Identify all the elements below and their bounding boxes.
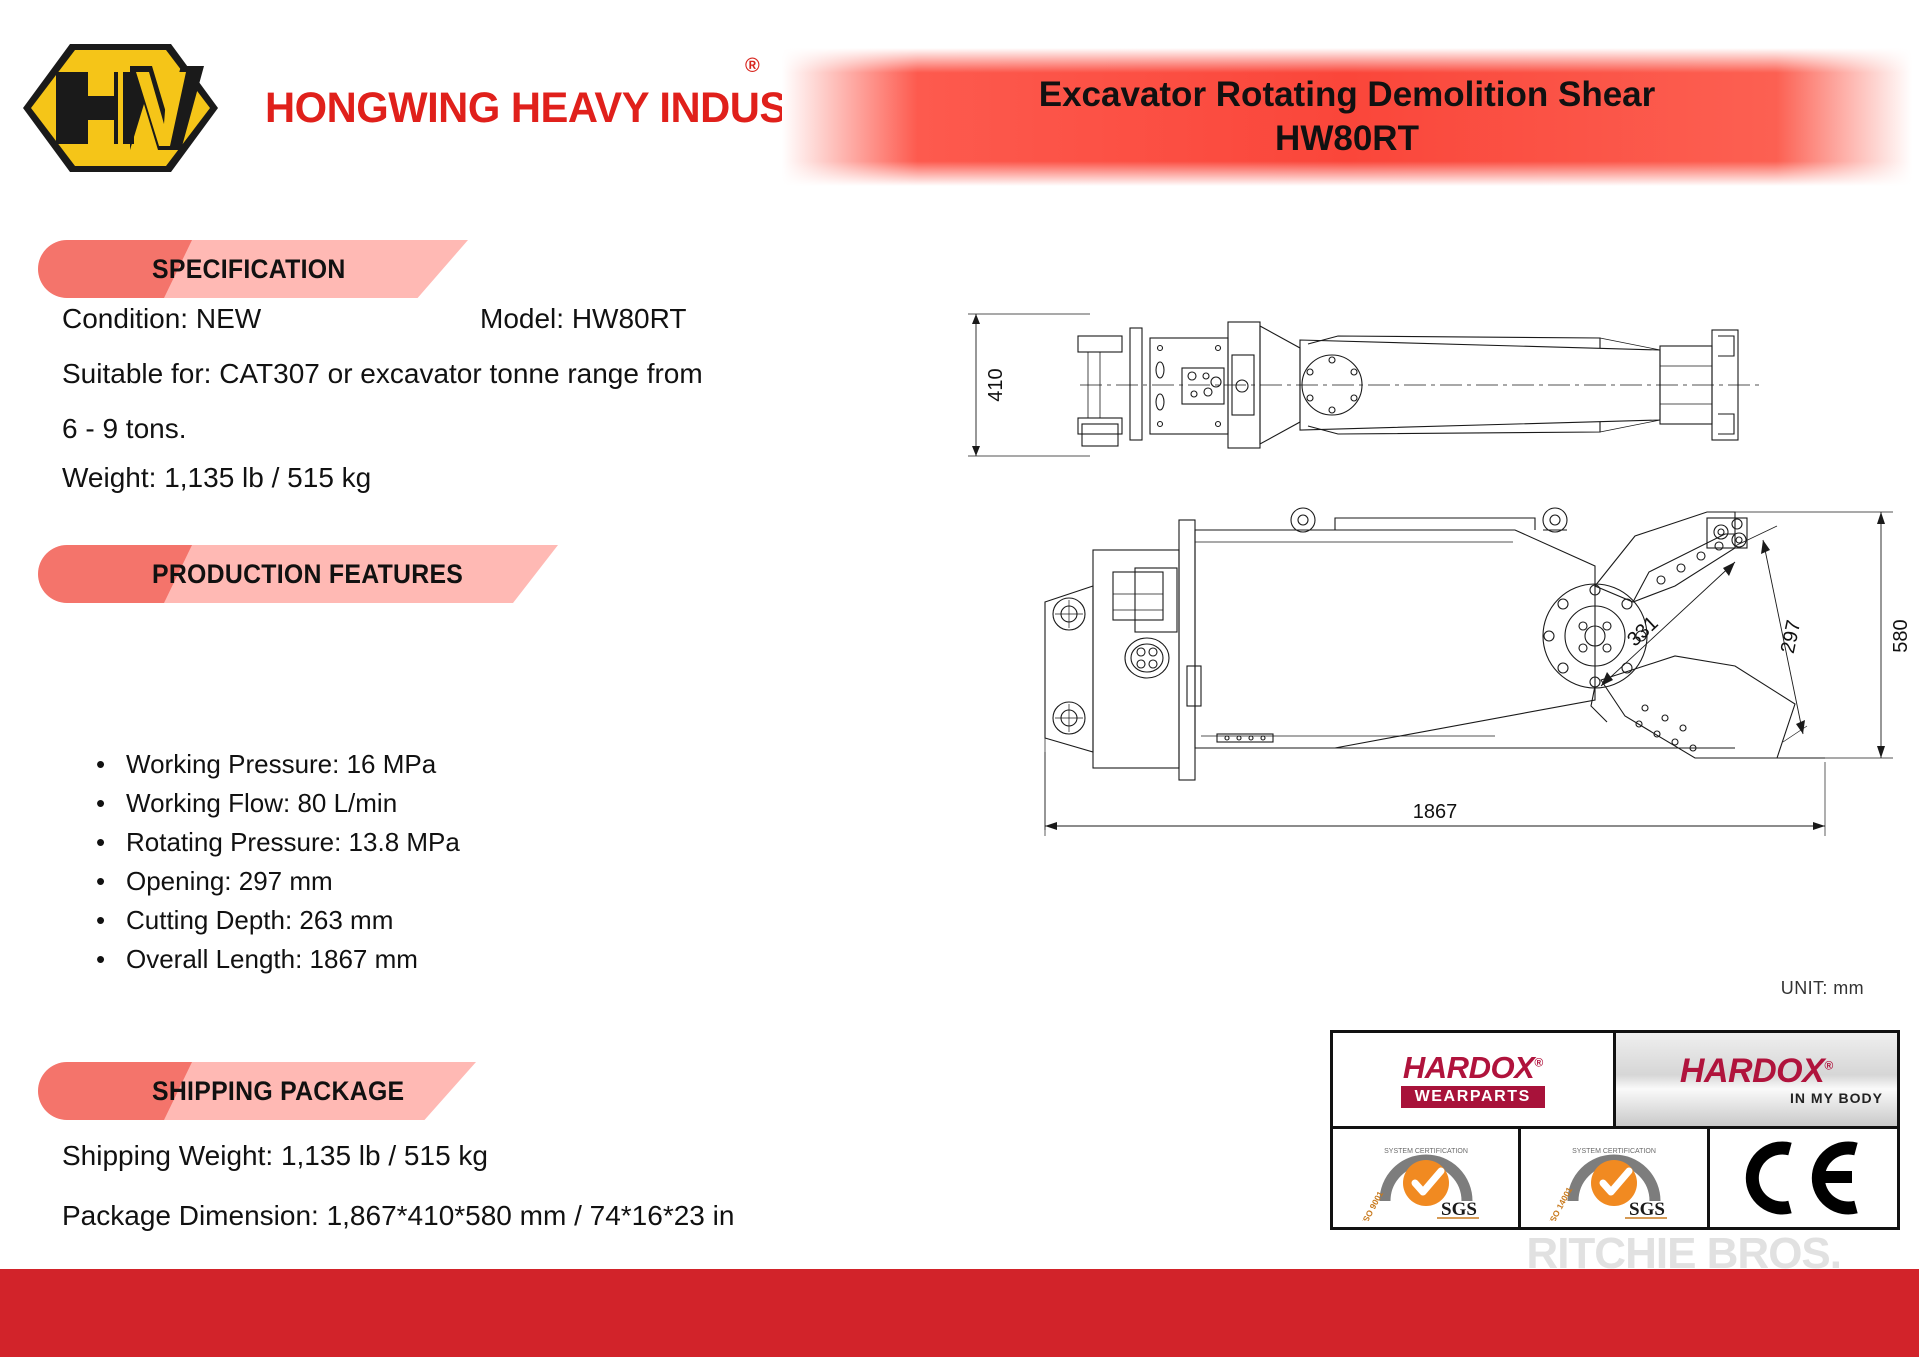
sgs-wordmark: SGS: [1441, 1199, 1477, 1220]
sgs-arc-text: SYSTEM CERTIFICATION: [1384, 1148, 1468, 1155]
product-title-line1: Excavator Rotating Demolition Shear: [1039, 73, 1656, 117]
registered-icon: ®: [1824, 1058, 1832, 1072]
dimension-410: 410: [985, 368, 1007, 401]
spec-weight: Weight: 1,135 lb / 515 kg: [62, 462, 371, 494]
sgs-standard-label: ISO 9001: [1359, 1189, 1385, 1221]
dimension-331: 331: [1623, 612, 1662, 651]
hardox-wordmark: HARDOX®: [1680, 1054, 1833, 1088]
sgs-iso14001-logo: SYSTEM CERTIFICATION ISO 14001 SGS: [1521, 1129, 1709, 1227]
list-item: Overall Length: 1867 mm: [92, 940, 460, 979]
product-title-banner: Excavator Rotating Demolition Shear HW80…: [782, 48, 1912, 186]
section-label-production-features: PRODUCTION FEATURES: [152, 545, 463, 603]
section-label-specification: SPECIFICATION: [152, 240, 346, 298]
technical-drawing-side-view: 1867 580 297 331: [1035, 490, 1919, 970]
hardox-wordmark: HARDOX®: [1403, 1052, 1543, 1083]
list-item: Working Flow: 80 L/min: [92, 784, 460, 823]
registered-trademark-icon: ®: [745, 55, 760, 78]
certification-logos-box: HARDOX® WEARPARTS HARDOX® IN MY BODY SYS…: [1330, 1030, 1900, 1230]
section-pill-shape: [38, 1062, 164, 1120]
sgs-standard-label: ISO 14001: [1546, 1185, 1574, 1221]
spec-condition: Condition: NEW: [62, 303, 261, 334]
sgs-iso9001-logo: SYSTEM CERTIFICATION ISO 9001 SGS: [1333, 1129, 1521, 1227]
hardox-in-my-body-label: IN MY BODY: [1790, 1090, 1883, 1106]
hw-hexagon-logo-icon: [18, 38, 223, 178]
sgs-arc-text: SYSTEM CERTIFICATION: [1572, 1148, 1656, 1155]
hardox-in-my-body-logo: HARDOX® IN MY BODY: [1616, 1033, 1898, 1126]
spec-suitable-for-cont: 6 - 9 tons.: [62, 413, 187, 445]
registered-icon: ®: [1534, 1055, 1542, 1069]
product-title-line2: HW80RT: [1275, 117, 1419, 161]
section-pill-shape: [38, 545, 164, 603]
brand-name: HONGWING HEAVY INDUSTRY: [265, 84, 867, 133]
dimension-580: 580: [1890, 619, 1912, 652]
section-pill-shape: [38, 240, 164, 298]
shipping-weight: Shipping Weight: 1,135 lb / 515 kg: [62, 1140, 488, 1172]
spec-condition-row: Condition: NEW Model: HW80RT: [62, 303, 261, 335]
production-features-list: Working Pressure: 16 MPa Working Flow: 8…: [92, 745, 460, 979]
sgs-wordmark: SGS: [1629, 1199, 1665, 1220]
section-header-specification: SPECIFICATION: [0, 240, 600, 298]
product-spec-sheet: HONGWING HEAVY INDUSTRY ® Excavator Rota…: [0, 0, 1919, 1357]
unit-note: UNIT: mm: [1781, 978, 1864, 999]
dimension-1867: 1867: [1413, 801, 1458, 823]
section-header-shipping-package: SHIPPING PACKAGE: [0, 1062, 600, 1120]
list-item: Opening: 297 mm: [92, 862, 460, 901]
hardox-wearparts-label: WEARPARTS: [1401, 1086, 1545, 1108]
list-item: Working Pressure: 16 MPa: [92, 745, 460, 784]
list-item: Rotating Pressure: 13.8 MPa: [92, 823, 460, 862]
spec-suitable-for: Suitable for: CAT307 or excavator tonne …: [62, 358, 703, 390]
package-dimension: Package Dimension: 1,867*410*580 mm / 74…: [62, 1200, 734, 1232]
spec-model: Model: HW80RT: [480, 303, 686, 335]
footer-bar: [0, 1269, 1919, 1357]
section-header-production-features: PRODUCTION FEATURES: [0, 545, 600, 603]
technical-drawing-top-view: 410: [960, 300, 1780, 470]
hardox-wearparts-logo: HARDOX® WEARPARTS: [1333, 1033, 1616, 1126]
company-logo-block: HONGWING HEAVY INDUSTRY: [18, 38, 758, 178]
ce-mark-logo: [1710, 1129, 1897, 1227]
list-item: Cutting Depth: 263 mm: [92, 901, 460, 940]
section-label-shipping-package: SHIPPING PACKAGE: [152, 1062, 404, 1120]
dimension-297: 297: [1777, 618, 1805, 655]
